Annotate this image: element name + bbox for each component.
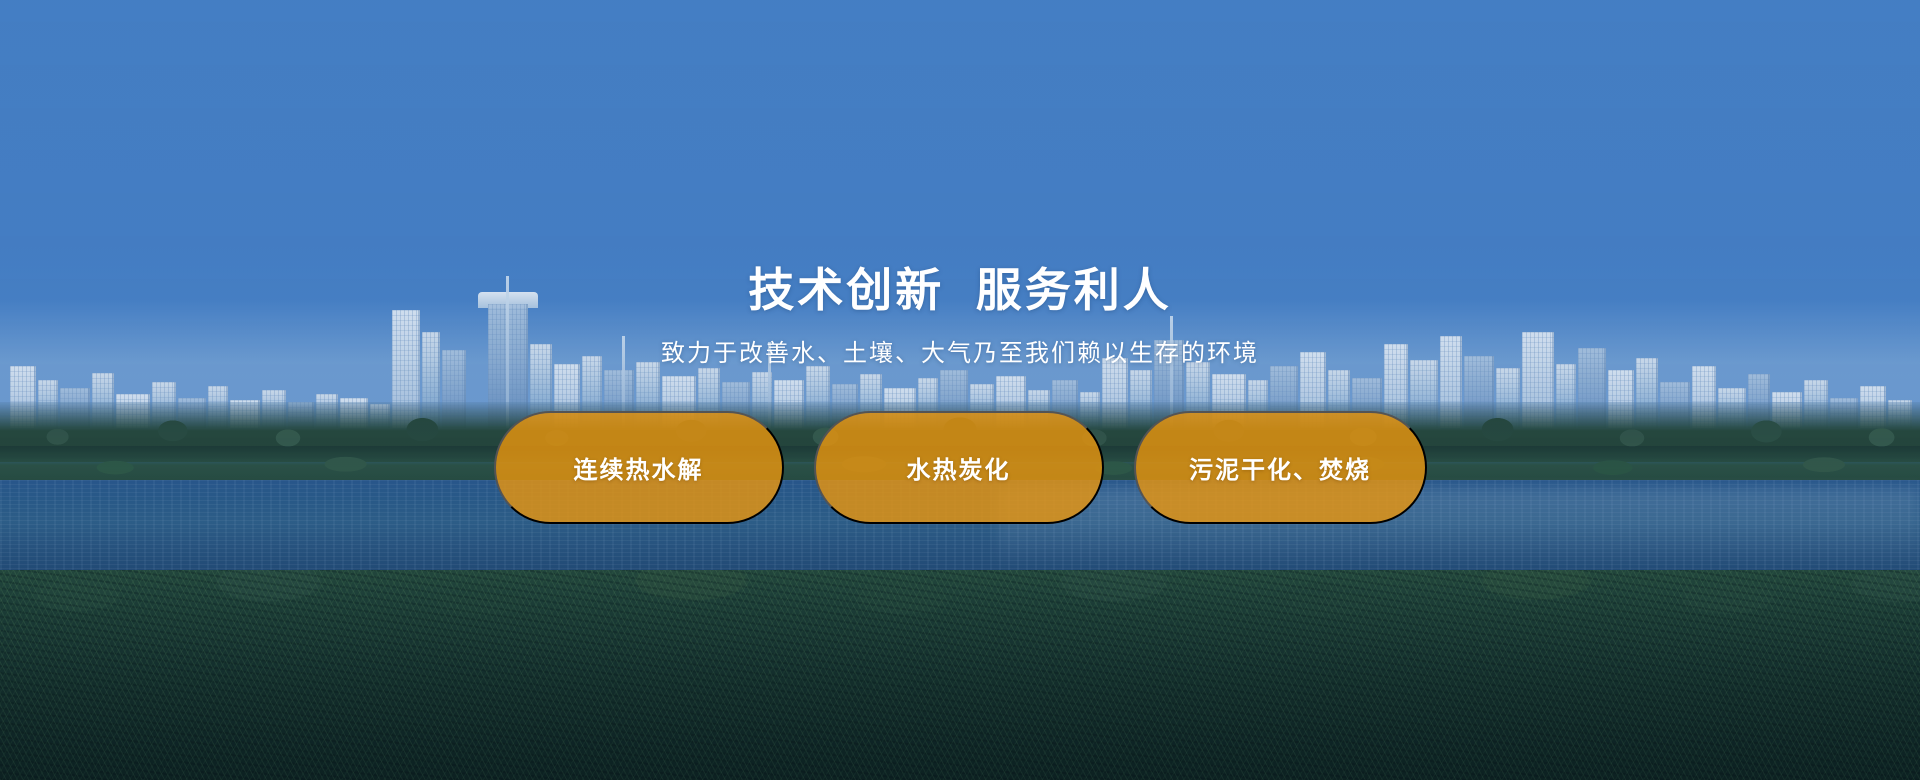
service-button-continuous-thermal-hydrolysis[interactable]: 连续热水解 — [494, 411, 784, 524]
page-title: 技术创新 服务利人 — [748, 265, 1172, 316]
page-subtitle: 致力于改善水、土壤、大气乃至我们赖以生存的环境 — [661, 340, 1259, 369]
hero-banner: 技术创新 服务利人 致力于改善水、土壤、大气乃至我们赖以生存的环境 连续热水解 … — [0, 0, 1920, 780]
service-button-sludge-drying-incineration[interactable]: 污泥干化、焚烧 — [1134, 411, 1427, 524]
banner-content: 技术创新 服务利人 致力于改善水、土壤、大气乃至我们赖以生存的环境 连续热水解 … — [0, 0, 1920, 780]
service-button-group: 连续热水解 水热炭化 污泥干化、焚烧 — [494, 411, 1427, 524]
service-button-hydrothermal-carbonization[interactable]: 水热炭化 — [814, 411, 1104, 524]
